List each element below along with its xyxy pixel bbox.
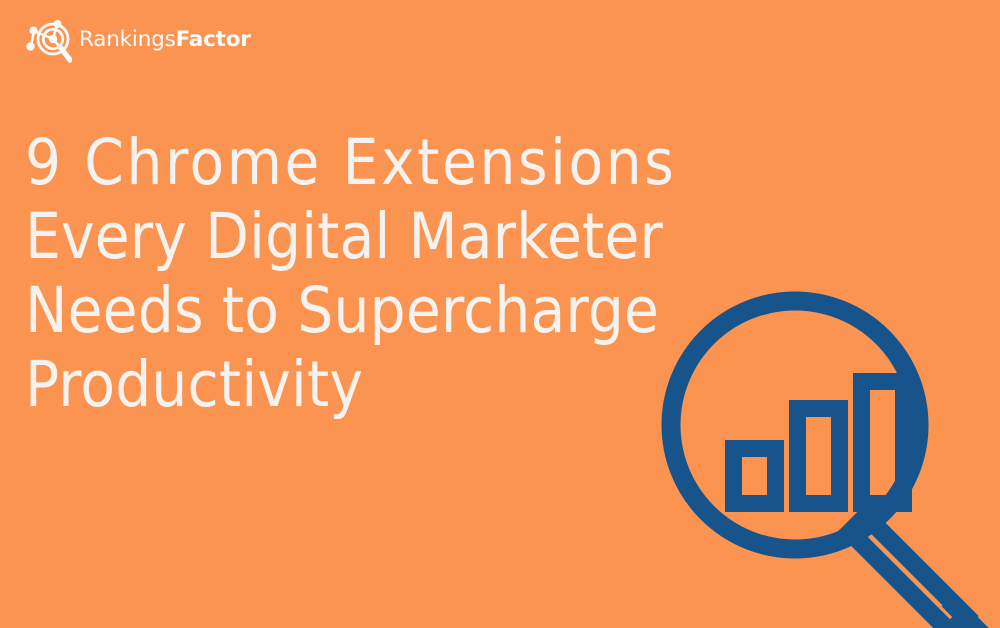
bar-2 <box>798 409 840 504</box>
magnifier-handle <box>850 516 966 628</box>
bar-chart-group <box>734 382 904 504</box>
headline-line-1: 9 Chrome Extensions <box>25 126 665 200</box>
magnifier-handle-tip <box>948 600 993 628</box>
brand-name-part-2: Factor <box>176 29 251 51</box>
headline-line-4: Productivity <box>25 348 665 422</box>
brand-name-part-1: Rankings <box>79 29 176 51</box>
brand-name: RankingsFactor <box>79 29 251 51</box>
headline-line-2: Every Digital Marketer <box>25 200 665 274</box>
bar-3 <box>862 382 904 504</box>
magnifier-lens-ring <box>671 301 919 549</box>
rankings-target-magnifier-icon <box>24 17 72 63</box>
bar-1 <box>734 449 776 504</box>
magnifying-glass-bar-chart-icon <box>648 288 1000 628</box>
headline-line-3: Needs to Supercharge <box>25 274 665 348</box>
blog-banner: RankingsFactor 9 Chrome Extensions Every… <box>0 0 1000 628</box>
brand-logo[interactable]: RankingsFactor <box>24 17 251 63</box>
headline: 9 Chrome Extensions Every Digital Market… <box>25 126 665 422</box>
